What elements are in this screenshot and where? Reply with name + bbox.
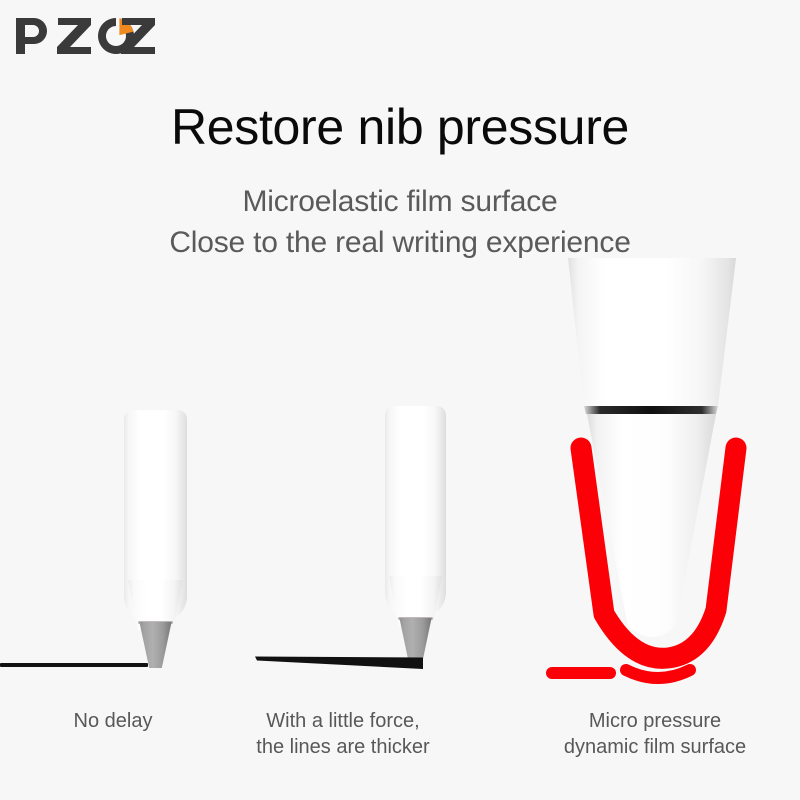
- stylus-taper: [389, 576, 442, 626]
- caption-line: No delay: [18, 708, 208, 734]
- caption-line: Micro pressure: [510, 708, 800, 734]
- film-closeup-graphic: [540, 258, 790, 688]
- caption-line: dynamic film surface: [510, 734, 800, 760]
- deformed-film-segment: [626, 670, 690, 678]
- pen-nib-cone: [587, 414, 716, 637]
- subtitle-line-2: Close to the real writing experience: [0, 222, 800, 263]
- product-marketing-image: Restore nib pressure Microelastic film s…: [0, 0, 800, 800]
- stylus-nib-seam: [138, 621, 173, 624]
- film-closeup-illustration: [540, 258, 790, 688]
- stylus-body: [385, 406, 446, 618]
- thin-stroke-line: [0, 663, 148, 667]
- stylus-nib-seam: [398, 617, 433, 620]
- page-title: Restore nib pressure: [0, 97, 800, 157]
- microelastic-film-wrap: [581, 448, 736, 658]
- stylus-nib: [138, 622, 173, 668]
- caption-no-delay: No delay: [18, 708, 208, 734]
- caption-line: the lines are thicker: [228, 734, 458, 760]
- pen-seam: [584, 406, 718, 414]
- stylus-nib: [398, 618, 433, 668]
- caption-line: With a little force,: [228, 708, 458, 734]
- caption-film: Micro pressure dynamic film surface: [510, 708, 800, 760]
- stylus-taper: [128, 580, 183, 630]
- caption-pressure: With a little force, the lines are thick…: [228, 708, 458, 760]
- subtitle: Microelastic film surface Close to the r…: [0, 181, 800, 263]
- pzoz-logo: [12, 14, 162, 58]
- pen-barrel: [568, 258, 736, 406]
- stylus-no-delay-illustration: [124, 410, 187, 668]
- tapered-stroke-line: [255, 648, 425, 670]
- stylus-pressure-illustration: [385, 406, 448, 668]
- pzoz-logo-icon: [12, 14, 162, 58]
- stylus-body: [124, 410, 187, 622]
- subtitle-line-1: Microelastic film surface: [0, 181, 800, 222]
